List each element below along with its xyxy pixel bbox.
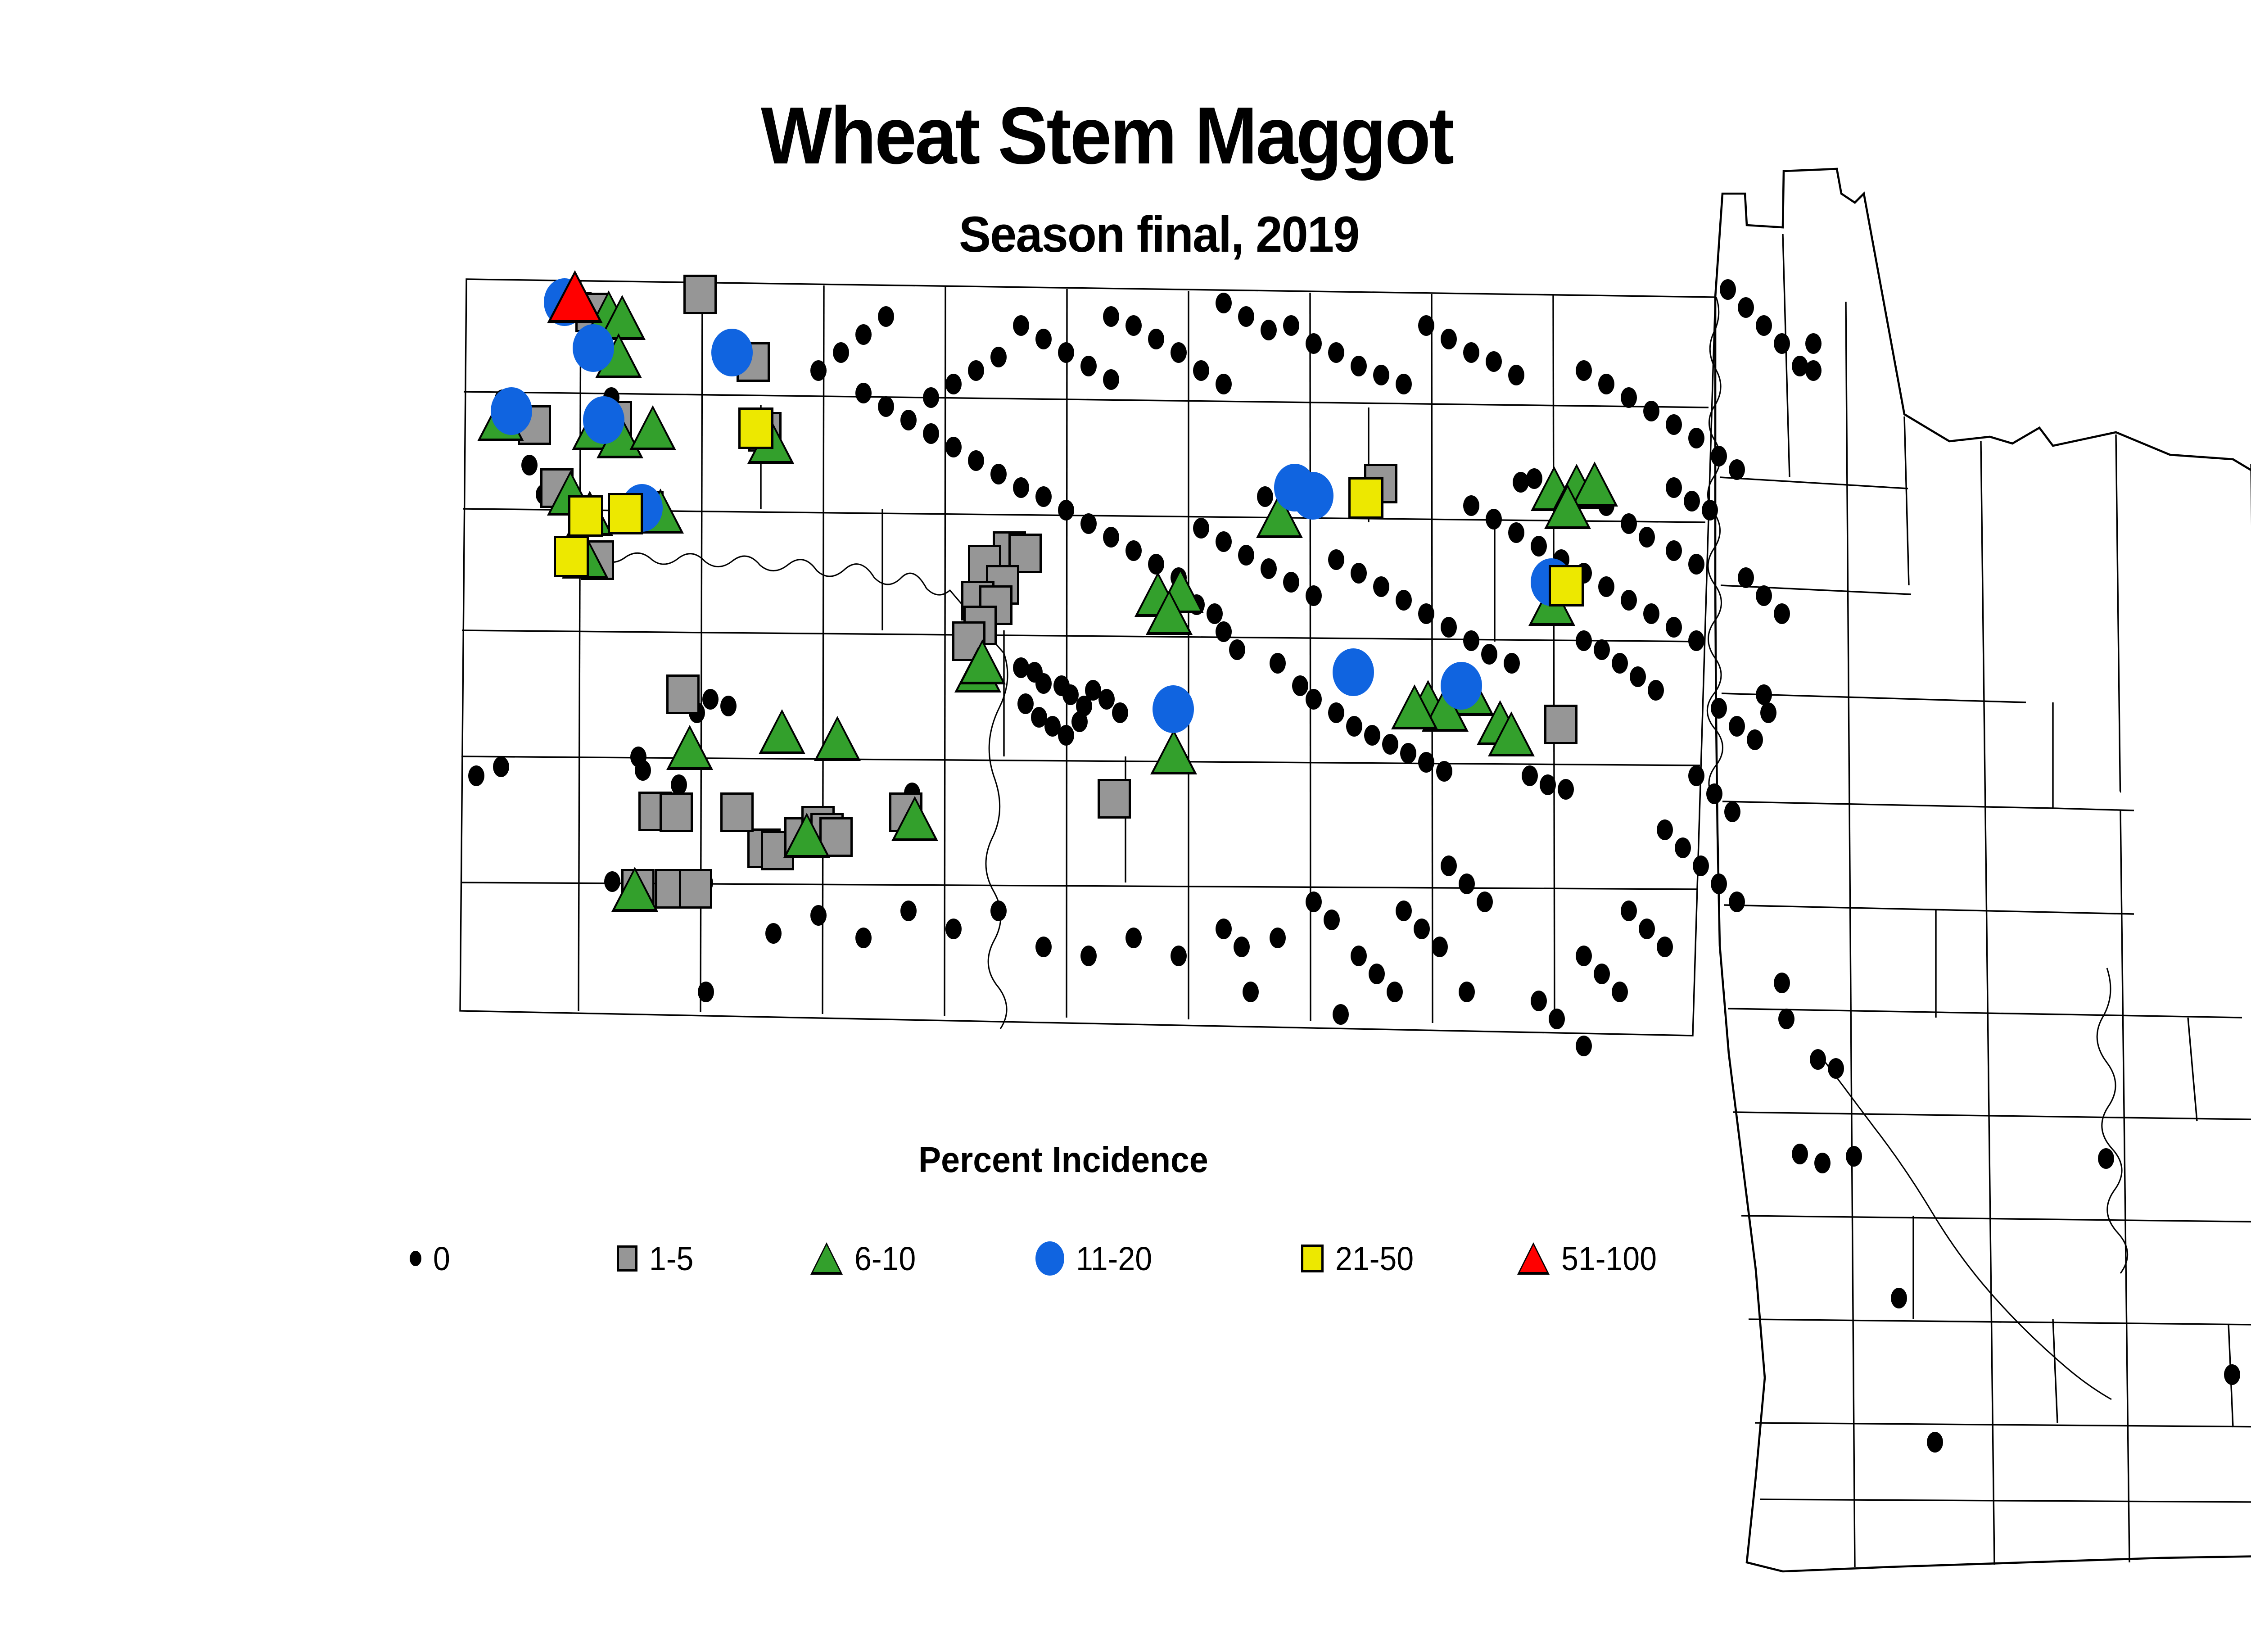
map-page: Wheat Stem Maggot Season final, 2019 xyxy=(0,0,2251,1652)
legend-label-6-10: 6-10 xyxy=(854,1240,916,1278)
legend-label-1-5: 1-5 xyxy=(649,1240,693,1278)
legend-swatch-circle-small-black xyxy=(410,1251,421,1266)
legend-swatch-circle-blue xyxy=(1035,1241,1064,1276)
legend-item-6-10[interactable]: 6-10 xyxy=(810,1234,921,1283)
legend-label-21-50: 21-50 xyxy=(1335,1240,1414,1278)
north-dakota-counties xyxy=(460,279,1715,1036)
legend-item-0[interactable]: 0 xyxy=(410,1234,452,1283)
legend-item-21-50[interactable]: 21-50 xyxy=(1301,1234,1420,1283)
county-map-svg xyxy=(0,0,2251,1652)
legend-swatch-square-gray xyxy=(617,1245,637,1272)
legend-label-51-100: 51-100 xyxy=(1561,1240,1657,1278)
legend-item-11-20[interactable]: 11-20 xyxy=(1035,1234,1159,1283)
legend-title: Percent Incidence xyxy=(918,1139,1208,1181)
map-canvas[interactable] xyxy=(0,0,2251,1652)
legend-label-0: 0 xyxy=(433,1240,450,1278)
legend-item-1-5[interactable]: 1-5 xyxy=(617,1234,697,1283)
legend-swatch-triangle-green xyxy=(810,1242,843,1275)
legend-swatch-square-yellow xyxy=(1301,1245,1324,1272)
legend-label-11-20: 11-20 xyxy=(1076,1240,1152,1278)
legend-item-51-100[interactable]: 51-100 xyxy=(1517,1234,1665,1283)
minnesota-counties xyxy=(1707,169,2251,1571)
legend-swatch-triangle-red xyxy=(1517,1242,1550,1275)
